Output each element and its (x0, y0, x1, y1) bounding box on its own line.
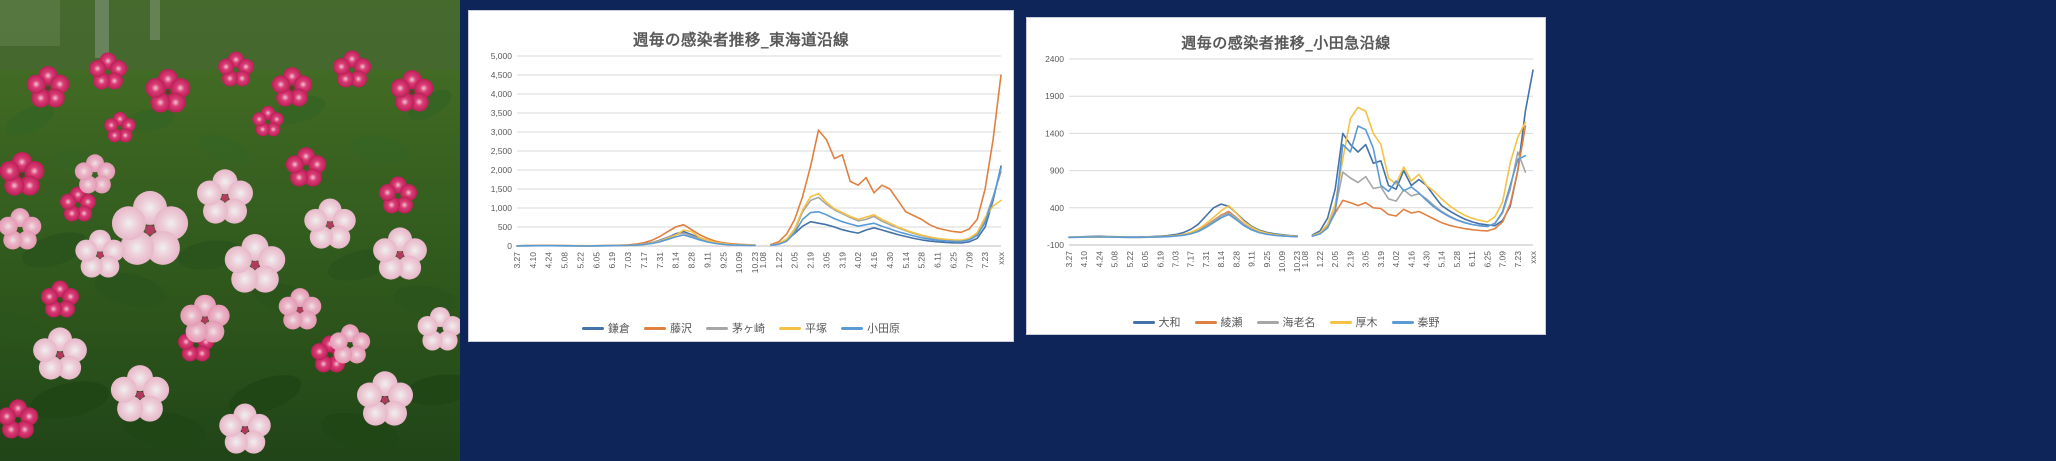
x-axis-tick-label: 9.11 (1247, 251, 1257, 267)
legend-swatch-icon (841, 327, 863, 330)
x-axis-tick-label: 5.08 (560, 252, 570, 269)
y-axis-tick-label: 1,000 (491, 203, 513, 213)
y-axis-tick-label: 3,500 (491, 108, 513, 118)
x-axis-tick-label: 7.23 (980, 252, 990, 269)
x-axis-tick-label: xxx (1528, 250, 1538, 264)
x-axis-tick-label: 3.19 (1376, 251, 1386, 268)
x-axis-tick-label: 2.05 (1330, 251, 1340, 268)
x-axis-tick-label: 7.17 (639, 252, 649, 269)
x-axis-tick-label: 4.24 (1094, 251, 1104, 268)
legend-swatch-icon (1392, 321, 1414, 324)
series-line-小田原 (517, 168, 1001, 246)
x-axis-tick-label: 5.22 (1125, 251, 1135, 268)
x-axis-tick-label: 4.02 (853, 252, 863, 269)
x-axis-tick-label: 5.28 (1452, 251, 1462, 268)
legend-item-秦野[interactable]: 秦野 (1392, 317, 1440, 328)
x-axis-tick-label: 5.08 (1110, 251, 1120, 268)
legend-swatch-icon (706, 327, 728, 330)
series-line-鎌倉 (517, 166, 1001, 246)
legend-swatch-icon (582, 327, 604, 330)
x-axis-tick-label: 7.09 (1498, 251, 1508, 268)
x-axis-tick-label: 1.22 (1315, 251, 1325, 268)
x-axis-tick-label: 10.09 (1277, 251, 1287, 273)
x-axis-tick-label: 3.27 (512, 252, 522, 269)
chart-title-tokaido: 週毎の感染者推移_東海道沿線 (469, 28, 1013, 50)
legend-item-大和[interactable]: 大和 (1133, 317, 1181, 328)
legend-item-海老名[interactable]: 海老名 (1257, 317, 1316, 328)
legend-swatch-icon (644, 327, 666, 330)
x-axis-tick-label: 3.05 (1361, 251, 1371, 268)
line-chart-odakyu: -1004009001400190024003.274.104.245.085.… (1027, 53, 1547, 315)
x-axis-tick-label: 7.03 (1171, 251, 1181, 268)
x-axis-tick-label: 9.25 (1262, 251, 1272, 268)
x-axis-tick-label: 9.11 (702, 252, 712, 268)
chart-panel-tokaido: 週毎の感染者推移_東海道沿線 05001,0001,5002,0002,5003… (468, 10, 1014, 342)
x-axis-tick-label: 6.05 (591, 252, 601, 269)
y-axis-tick-label: 1400 (1045, 128, 1064, 138)
x-axis-tick-label: 8.28 (687, 252, 697, 269)
x-axis-tick-label: 4.30 (885, 252, 895, 269)
legend-label: 藤沢 (670, 323, 692, 334)
y-axis-tick-label: 3,000 (491, 127, 513, 137)
legend-item-厚木[interactable]: 厚木 (1330, 317, 1378, 328)
series-line-大和 (1069, 70, 1533, 237)
x-axis-tick-label: 10.09 (734, 252, 744, 274)
y-axis-tick-label: 2400 (1045, 54, 1064, 64)
y-axis-tick-label: 4,000 (491, 89, 513, 99)
legend-swatch-icon (779, 327, 801, 330)
y-axis-tick-label: -100 (1047, 240, 1064, 250)
legend-label: 茅ヶ崎 (732, 323, 765, 334)
x-axis-tick-label: 4.16 (869, 252, 879, 269)
x-axis-tick-label: 6.25 (1482, 251, 1492, 268)
legend-odakyu: 大和綾瀬海老名厚木秦野 (1027, 317, 1545, 328)
x-axis-tick-label: 4.10 (528, 252, 538, 269)
legend-swatch-icon (1195, 321, 1217, 324)
legend-label: 大和 (1159, 317, 1181, 328)
x-axis-tick-label: 4.10 (1079, 251, 1089, 268)
series-line-厚木 (1069, 107, 1525, 237)
legend-swatch-icon (1133, 321, 1155, 324)
x-axis-tick-label: 7.31 (1201, 251, 1211, 268)
x-axis-tick-label: 4.02 (1391, 251, 1401, 268)
flower-photo-graphic (0, 0, 460, 461)
series-line-藤沢 (517, 75, 1001, 246)
legend-label: 海老名 (1283, 317, 1316, 328)
y-axis-tick-label: 2,000 (491, 165, 513, 175)
x-axis-tick-label: 7.03 (623, 252, 633, 269)
series-line-海老名 (1069, 152, 1525, 237)
legend-label: 平塚 (805, 323, 827, 334)
y-axis-tick-label: 5,000 (491, 51, 513, 61)
x-axis-tick-label: 8.28 (1231, 251, 1241, 268)
chart-title-odakyu: 週毎の感染者推移_小田急沿線 (1027, 32, 1545, 53)
y-axis-tick-label: 0 (507, 241, 512, 251)
legend-label: 小田原 (867, 323, 900, 334)
legend-label: 秦野 (1418, 317, 1440, 328)
x-axis-tick-label: 7.31 (655, 252, 665, 269)
legend-item-小田原[interactable]: 小田原 (841, 323, 900, 334)
x-axis-tick-label: 6.19 (1155, 251, 1165, 268)
x-axis-tick-label: 4.24 (544, 252, 554, 269)
x-axis-tick-label: 7.09 (964, 252, 974, 269)
x-axis-tick-label: xxx (996, 251, 1006, 265)
x-axis-tick-label: 6.25 (948, 252, 958, 269)
series-line-秦野 (1069, 126, 1525, 237)
slide-canvas: 週毎の感染者推移_東海道沿線 05001,0001,5002,0002,5003… (0, 0, 2056, 461)
x-axis-tick-label: 1.08 (758, 252, 768, 269)
legend-label: 鎌倉 (608, 323, 630, 334)
legend-swatch-icon (1257, 321, 1279, 324)
x-axis-tick-label: 4.30 (1422, 251, 1432, 268)
legend-swatch-icon (1330, 321, 1352, 324)
x-axis-tick-label: 7.23 (1513, 251, 1523, 268)
x-axis-tick-label: 3.05 (821, 252, 831, 269)
plot-area-tokaido: 05001,0001,5002,0002,5003,0003,5004,0004… (469, 50, 1013, 318)
x-axis-tick-label: 5.22 (576, 252, 586, 269)
x-axis-tick-label: 5.28 (917, 252, 927, 269)
y-axis-tick-label: 4,500 (491, 70, 513, 80)
x-axis-tick-label: 9.25 (718, 252, 728, 269)
y-axis-tick-label: 2,500 (491, 146, 513, 156)
x-axis-tick-label: 1.08 (1300, 251, 1310, 268)
x-axis-tick-label: 5.14 (901, 252, 911, 269)
x-axis-tick-label: 6.11 (1467, 251, 1477, 267)
chart-panel-odakyu: 週毎の感染者推移_小田急沿線 -1004009001400190024003.2… (1026, 17, 1546, 335)
y-axis-tick-label: 1900 (1045, 91, 1064, 101)
legend-tokaido: 鎌倉藤沢茅ヶ崎平塚小田原 (469, 323, 1013, 334)
series-line-茅ヶ崎 (517, 172, 1001, 246)
y-axis-tick-label: 1,500 (491, 184, 513, 194)
x-axis-tick-label: 7.17 (1186, 251, 1196, 268)
x-axis-tick-label: 8.14 (671, 252, 681, 269)
legend-item-平塚[interactable]: 平塚 (779, 323, 827, 334)
legend-item-鎌倉[interactable]: 鎌倉 (582, 323, 630, 334)
x-axis-tick-label: 8.14 (1216, 251, 1226, 268)
y-axis-tick-label: 900 (1050, 166, 1064, 176)
x-axis-tick-label: 2.19 (1345, 251, 1355, 268)
legend-label: 厚木 (1356, 317, 1378, 328)
x-axis-tick-label: 1.22 (774, 252, 784, 269)
x-axis-tick-label: 2.19 (806, 252, 816, 269)
x-axis-tick-label: 6.19 (607, 252, 617, 269)
y-axis-tick-label: 500 (498, 222, 512, 232)
x-axis-tick-label: 6.05 (1140, 251, 1150, 268)
flower-photo (0, 0, 460, 461)
legend-item-茅ヶ崎[interactable]: 茅ヶ崎 (706, 323, 765, 334)
x-axis-tick-label: 4.16 (1406, 251, 1416, 268)
x-axis-tick-label: 3.19 (837, 252, 847, 269)
legend-item-藤沢[interactable]: 藤沢 (644, 323, 692, 334)
plot-area-odakyu: -1004009001400190024003.274.104.245.085.… (1027, 53, 1545, 315)
x-axis-tick-label: 5.14 (1437, 251, 1447, 268)
y-axis-tick-label: 400 (1050, 203, 1064, 213)
legend-label: 綾瀬 (1221, 317, 1243, 328)
x-axis-tick-label: 2.05 (790, 252, 800, 269)
legend-item-綾瀬[interactable]: 綾瀬 (1195, 317, 1243, 328)
line-chart-tokaido: 05001,0001,5002,0002,5003,0003,5004,0004… (469, 50, 1015, 318)
x-axis-tick-label: 6.11 (933, 252, 943, 268)
x-axis-tick-label: 3.27 (1064, 251, 1074, 268)
